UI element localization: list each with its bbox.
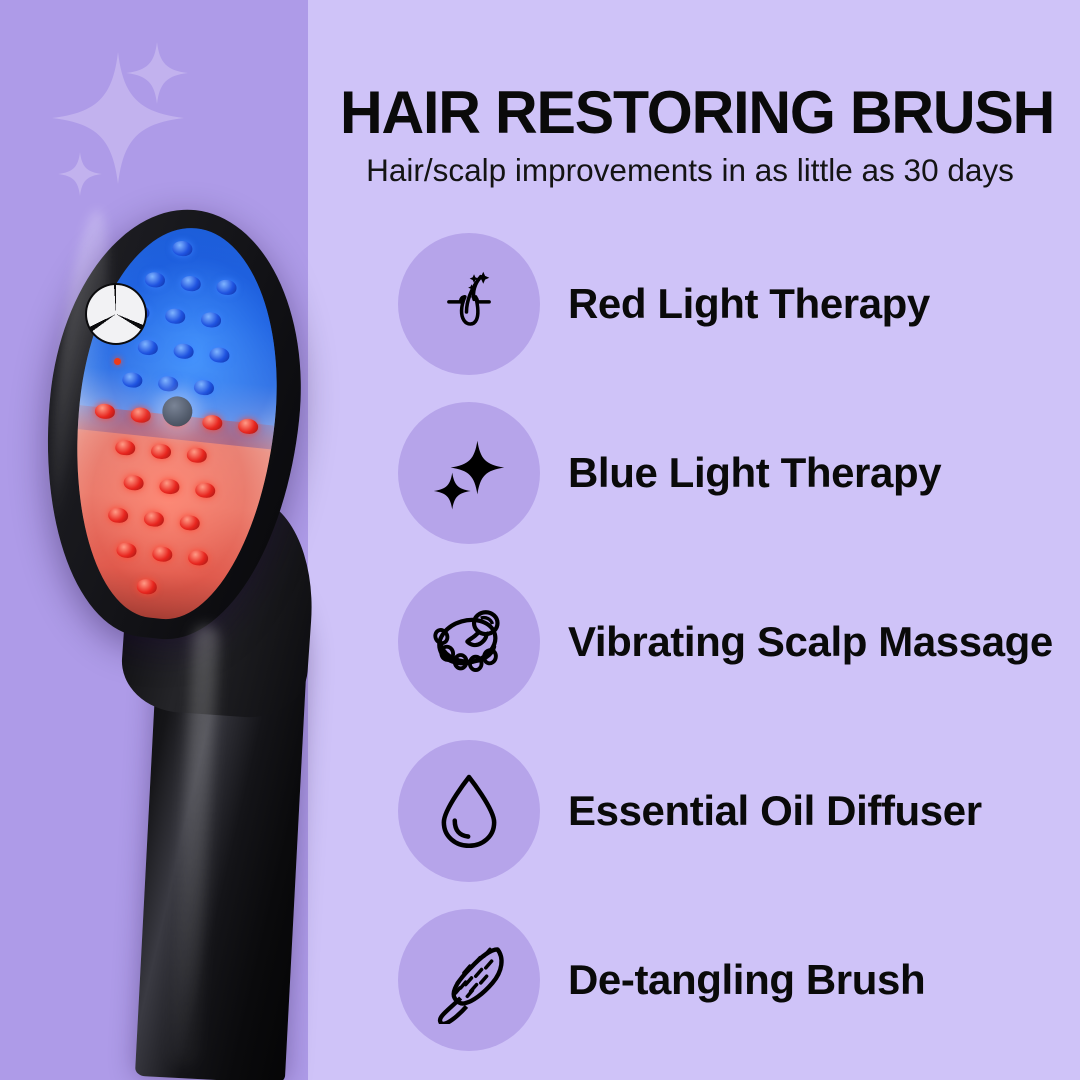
infographic-canvas: HAIR RESTORING BRUSH Hair/scalp improvem… [0, 0, 1080, 1080]
feature-label: Vibrating Scalp Massage [568, 618, 1053, 666]
feature-label: Blue Light Therapy [568, 449, 941, 497]
page-title: HAIR RESTORING BRUSH [340, 78, 1030, 147]
feature-icon-circle [398, 233, 540, 375]
feature-row[interactable]: Red Light Therapy [398, 233, 1048, 375]
sparkle-small-icon [58, 152, 102, 196]
feature-row[interactable]: Vibrating Scalp Massage [398, 571, 1048, 713]
hair-follicle-icon [427, 260, 511, 348]
feature-label: De-tangling Brush [568, 956, 925, 1004]
sparkle-icon [427, 429, 511, 517]
power-button[interactable] [85, 283, 147, 345]
feature-icon-circle [398, 571, 540, 713]
feature-row[interactable]: Blue Light Therapy [398, 402, 1048, 544]
feature-row[interactable]: Essential Oil Diffuser [398, 740, 1048, 882]
page-subtitle: Hair/scalp improvements in as little as … [340, 152, 1040, 189]
product-image [30, 195, 370, 1080]
feature-icon-circle [398, 402, 540, 544]
power-indicator-led [114, 358, 121, 365]
feature-icon-circle [398, 909, 540, 1051]
scalp-massager-icon [427, 598, 511, 686]
feature-row[interactable]: De-tangling Brush [398, 909, 1048, 1051]
water-droplet-icon [427, 767, 511, 855]
feature-label: Red Light Therapy [568, 280, 930, 328]
feature-label: Essential Oil Diffuser [568, 787, 982, 835]
hairbrush-icon [427, 936, 511, 1024]
sparkle-medium-icon [126, 42, 188, 104]
power-button-segments [87, 285, 145, 343]
feature-icon-circle [398, 740, 540, 882]
